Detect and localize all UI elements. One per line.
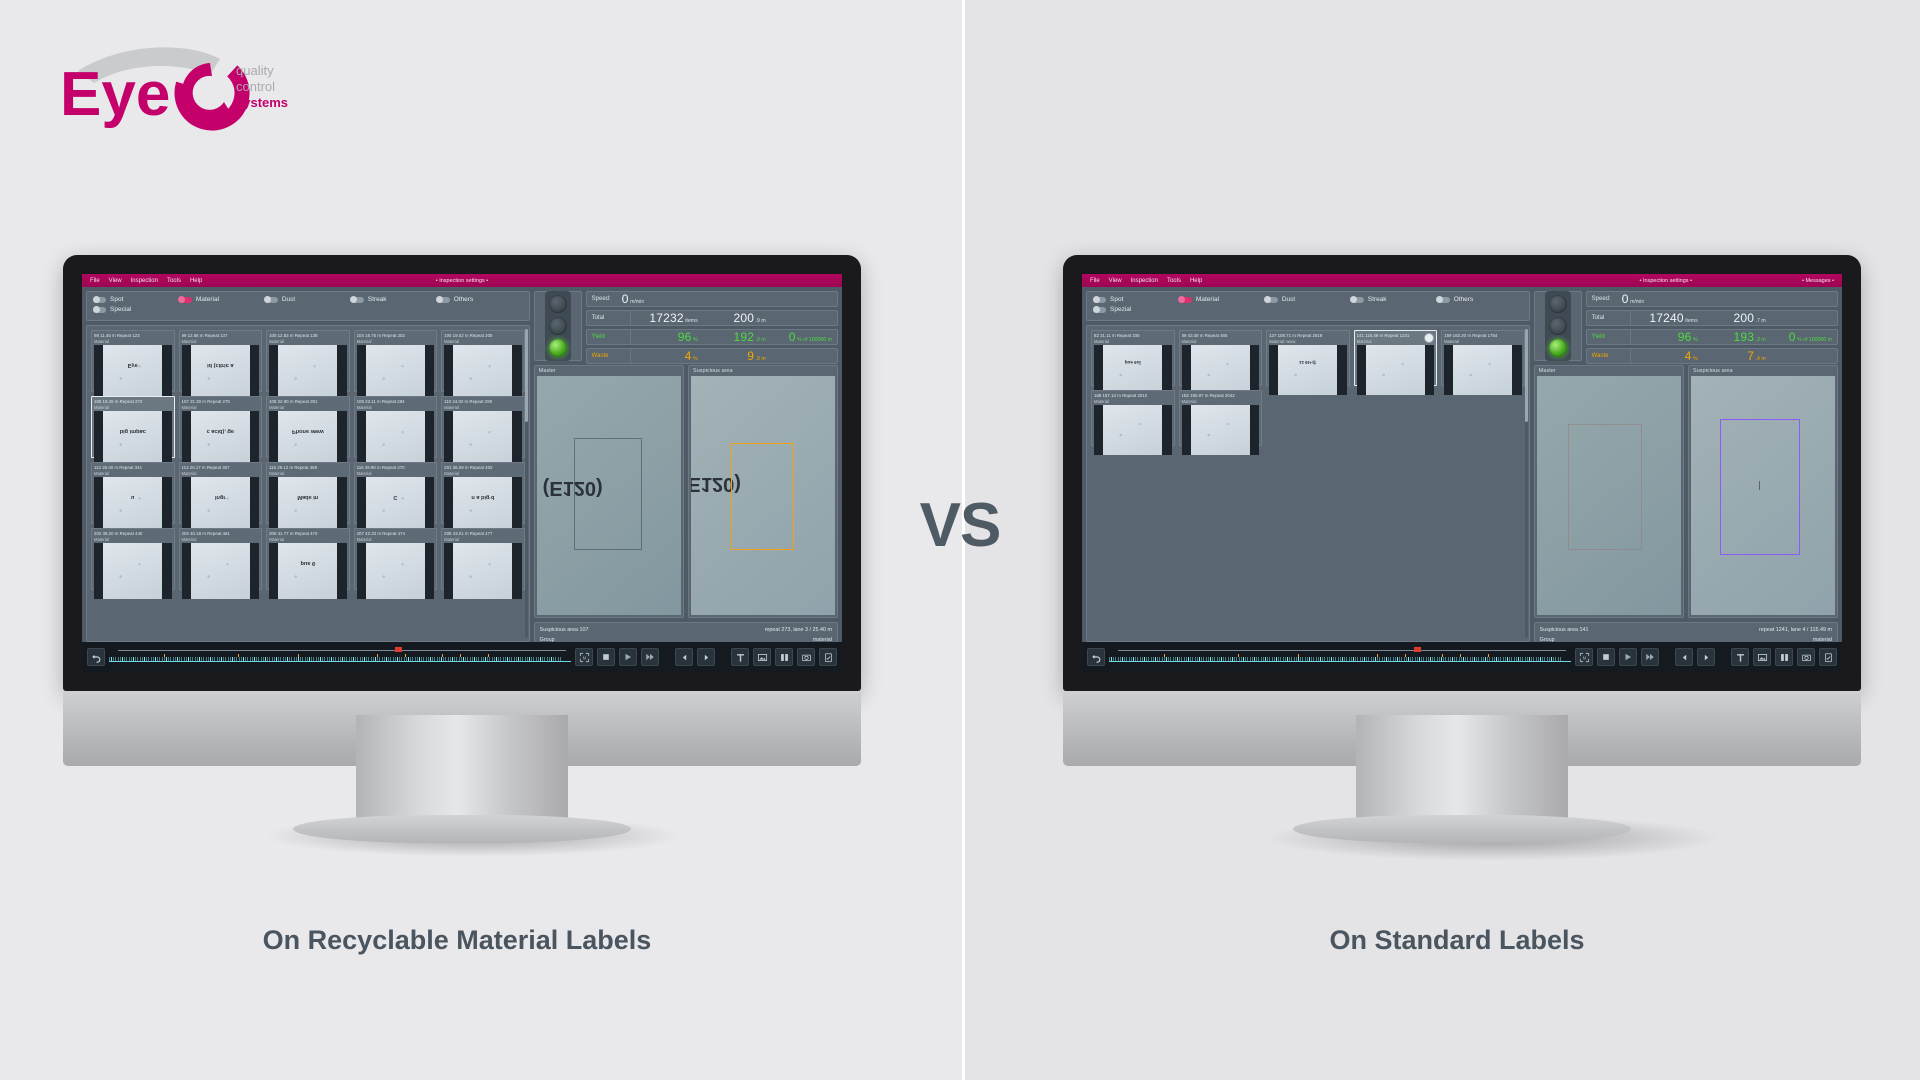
thumbnail-group: Material bbox=[182, 471, 260, 476]
thumbnail-image bbox=[94, 543, 172, 599]
stat-primary: 17232 items bbox=[631, 311, 703, 325]
menu-bar: FileViewInspectionToolsHelp bbox=[82, 278, 202, 284]
others-toggle[interactable] bbox=[437, 297, 450, 303]
thumbnail-group: Material bbox=[1094, 399, 1172, 404]
stat-row-speed: Speed: 0 m/min bbox=[586, 291, 838, 307]
monitor-left: FileViewInspectionToolsHelp • Inspection… bbox=[63, 255, 861, 766]
thumbnail-item[interactable]: 116 29.90 m Repeat 370 Material C bbox=[354, 462, 438, 524]
thumbnail-group: Material bbox=[94, 537, 172, 542]
thumbnail-group: Material bbox=[1357, 339, 1435, 344]
thumbnail-grid[interactable]: 82 31.11 m Repeat 335 Material pue 6ui 8… bbox=[1086, 325, 1530, 642]
filter-label: Streak bbox=[1368, 296, 1387, 303]
traffic-light-green bbox=[549, 339, 567, 357]
speed-cells: 0 m/min bbox=[611, 292, 837, 306]
text-icon[interactable] bbox=[1731, 648, 1749, 666]
thumbnail-item[interactable]: 141 115.49 m Repeat 1241 Material bbox=[1354, 330, 1438, 386]
menu-item-inspection[interactable]: Inspection bbox=[1131, 278, 1158, 284]
step-back-icon[interactable] bbox=[675, 648, 693, 666]
thumbnail-image bbox=[182, 543, 260, 599]
monitor-right-bezel: FileViewInspectionToolsHelp • Inspection… bbox=[1063, 255, 1861, 691]
timeline-position-marker[interactable] bbox=[1414, 647, 1421, 652]
stat-tertiary-unit: % of 100000 m bbox=[1797, 337, 1832, 343]
title-bar: FileViewInspectionToolsHelp • Inspection… bbox=[82, 274, 842, 287]
screen-right: FileViewInspectionToolsHelp • Inspection… bbox=[1082, 274, 1842, 672]
timeline-track-top2 bbox=[285, 650, 567, 651]
thumbnail-image: u bbox=[94, 477, 172, 533]
suspicious-image-panel[interactable]: Suspicious area (E120) bbox=[688, 365, 838, 618]
stat-row-total: Total 17240 items 200 .7 m bbox=[1586, 310, 1838, 326]
thumbnail-item[interactable]: 98 11.45 m Repeat 123 Material Eye bbox=[91, 330, 175, 392]
stat-label: Yield bbox=[587, 330, 631, 344]
timeline[interactable] bbox=[1109, 647, 1571, 667]
stat-primary-value: 17232 bbox=[649, 311, 683, 325]
thumbnail-image: C bbox=[357, 477, 435, 533]
filter-streak[interactable]: Streak bbox=[351, 296, 437, 303]
menu-item-file[interactable]: File bbox=[1090, 278, 1100, 284]
defect-filter-bar: Spot Material Dust Streak Others Spezial bbox=[1086, 291, 1530, 321]
svg-text:Eye: Eye bbox=[60, 60, 170, 129]
title-bar: FileViewInspectionToolsHelp • Inspection… bbox=[1082, 274, 1842, 287]
thumbnail-image bbox=[444, 411, 522, 467]
menu-item-tools[interactable]: Tools bbox=[167, 278, 181, 284]
spezial-toggle[interactable] bbox=[1093, 307, 1106, 313]
spot-toggle[interactable] bbox=[93, 297, 106, 303]
speed-label: Speed: bbox=[587, 292, 611, 306]
stat-primary: 4 % bbox=[1631, 349, 1703, 363]
filter-material[interactable]: Material bbox=[179, 296, 265, 303]
stat-secondary-unit: .7 m bbox=[1756, 318, 1766, 324]
stop-icon[interactable] bbox=[1597, 648, 1615, 666]
master-header: Master bbox=[1535, 366, 1683, 376]
stat-secondary-value: 200 bbox=[1733, 311, 1754, 325]
logo-tagline-1: quality bbox=[236, 63, 274, 78]
filter-dust[interactable]: Dust bbox=[265, 296, 351, 303]
messages-label[interactable]: • Messages • bbox=[1802, 278, 1834, 284]
stat-primary-unit: % bbox=[693, 337, 698, 343]
stat-secondary-value: 9 bbox=[747, 349, 754, 363]
svg-text:M: M bbox=[1582, 655, 1586, 660]
stat-primary-value: 4 bbox=[685, 349, 692, 363]
thumbnail-group: Material bbox=[269, 537, 347, 542]
stat-primary-value: 96 bbox=[1678, 330, 1692, 344]
timeline-baseline bbox=[109, 661, 571, 662]
stat-row-waste: Waste 4 % 9 .0 m bbox=[586, 348, 838, 364]
gallery-scrollbar[interactable] bbox=[525, 329, 528, 638]
caption-right: On Standard Labels bbox=[1107, 925, 1807, 956]
speed-label: Speed: bbox=[1587, 292, 1611, 306]
stat-label: Total bbox=[1587, 311, 1631, 325]
monitor-right: FileViewInspectionToolsHelp • Inspection… bbox=[1063, 255, 1861, 766]
detail-title-right: repeat 273, lane 3 / 25.40 m bbox=[765, 626, 832, 635]
stat-primary-value: 17240 bbox=[1649, 311, 1683, 325]
stat-secondary-value: 7 bbox=[1747, 349, 1754, 363]
suspicious-header: Suspicious area bbox=[689, 366, 837, 376]
stat-primary-unit: % bbox=[1693, 337, 1698, 343]
image-icon[interactable] bbox=[1753, 648, 1771, 666]
thumbnail-item[interactable]: 110 24.02 m Repeat 290 Material bbox=[441, 396, 525, 458]
stat-cells: 17232 items 200 .9 m bbox=[631, 311, 837, 325]
menu-item-help[interactable]: Help bbox=[190, 278, 202, 284]
traffic-light-green bbox=[1549, 339, 1567, 357]
thumbnail-image: n a big d bbox=[444, 477, 522, 533]
inspection-column: Speed: 0 m/min Total 17240 items bbox=[1534, 291, 1838, 668]
stat-tertiary-unit: % of 100000 m bbox=[797, 337, 832, 343]
thumbnail-grid[interactable]: 98 11.45 m Repeat 123 Material Eye 99 12… bbox=[86, 325, 530, 642]
thumbnail-group: Material bbox=[1182, 339, 1260, 344]
thumbnail-image: Eye bbox=[94, 345, 172, 401]
thumbnail-group: Material bbox=[182, 405, 260, 410]
stat-cells: 4 % 7 .4 m bbox=[1631, 349, 1837, 363]
filter-spot[interactable]: Spot bbox=[1093, 296, 1179, 303]
stat-tertiary: 0 % of 100000 m bbox=[1771, 330, 1837, 344]
thumbnail-image: big impac bbox=[94, 411, 172, 467]
thumbnail-group: Material bbox=[94, 471, 172, 476]
thumbnail-item[interactable]: 106 19.45 m Repeat 273 Material big impa… bbox=[91, 396, 175, 458]
thumbnail-image: c acid), ge bbox=[182, 411, 260, 467]
thumbnail-group: Material bbox=[357, 405, 435, 410]
thumbnail-item[interactable]: 207 42.33 m Repeat 474 Material bbox=[354, 528, 438, 590]
inspection-settings-label[interactable]: • Inspection settings • bbox=[1472, 278, 1692, 284]
stat-row-waste: Waste 4 % 7 .4 m bbox=[1586, 348, 1838, 364]
thumbnail-group: Material bbox=[444, 339, 522, 344]
thumbnail-group: Material bbox=[444, 471, 522, 476]
stat-secondary: 200 .9 m bbox=[703, 311, 771, 325]
dust-toggle[interactable] bbox=[1265, 297, 1278, 303]
filter-label: Material bbox=[1196, 296, 1219, 303]
report-icon[interactable] bbox=[819, 648, 837, 666]
play-icon[interactable] bbox=[1619, 648, 1637, 666]
material-toggle[interactable] bbox=[179, 297, 192, 303]
stat-label: Total bbox=[587, 311, 631, 325]
monitor-left-bezel: FileViewInspectionToolsHelp • Inspection… bbox=[63, 255, 861, 691]
thumbnail-item[interactable]: 182 190.87 m Repeat 2042 Material bbox=[1179, 390, 1263, 446]
report-icon[interactable] bbox=[1819, 648, 1837, 666]
special-toggle[interactable] bbox=[93, 307, 106, 313]
vs-label: VS bbox=[900, 490, 1020, 561]
filter-material[interactable]: Material bbox=[1179, 296, 1265, 303]
thumbnail-group: Material bbox=[1182, 399, 1260, 404]
filter-label: Spot bbox=[110, 296, 123, 303]
traffic-light bbox=[534, 291, 582, 361]
fit-icon[interactable]: M bbox=[575, 648, 593, 666]
filter-label: Others bbox=[1454, 296, 1474, 303]
thumbnail-image: Phone www bbox=[269, 411, 347, 467]
logo-tagline-2: control bbox=[236, 79, 275, 94]
stat-tertiary-value: 0 bbox=[789, 330, 796, 344]
filter-spot[interactable]: Spot bbox=[93, 296, 179, 303]
thumbnail-group: Material bbox=[1094, 339, 1172, 344]
thumbnail-item[interactable]: 89 43.08 m Repeat 465 Material bbox=[1179, 330, 1263, 386]
menu-item-help[interactable]: Help bbox=[1190, 278, 1202, 284]
speed-value: 0 bbox=[1622, 292, 1629, 306]
thumbnail-item[interactable]: 206 41.77 m Repeat 470 Material pue 6 bbox=[266, 528, 350, 590]
gallery-scrollbar[interactable] bbox=[1525, 329, 1528, 638]
filter-dust[interactable]: Dust bbox=[1265, 296, 1351, 303]
menu-bar: FileViewInspectionToolsHelp bbox=[1082, 278, 1202, 284]
menu-item-inspection[interactable]: Inspection bbox=[131, 278, 158, 284]
thumbnail-image bbox=[1094, 405, 1172, 455]
eyec-logo: Eye quality control systems bbox=[60, 45, 290, 130]
thumbnail-group: Material bbox=[269, 339, 347, 344]
image-compare-area: Master (E120) Suspicious area (E120) bbox=[534, 365, 838, 618]
step-back-icon[interactable] bbox=[1675, 648, 1693, 666]
thumbnail-item[interactable]: 107 21.30 m Repeat 275 Material c acid),… bbox=[179, 396, 263, 458]
stat-primary: 96 % bbox=[1631, 330, 1703, 344]
thumbnail-group: Material bbox=[269, 471, 347, 476]
stat-secondary-unit: .3 m bbox=[1756, 337, 1766, 343]
stat-label: Waste bbox=[587, 349, 631, 363]
suspicious-canvas[interactable] bbox=[1691, 376, 1835, 615]
speed-value: 0 bbox=[622, 292, 629, 306]
stat-label: Waste bbox=[1587, 349, 1631, 363]
stat-row-speed: Speed: 0 m/min bbox=[1586, 291, 1838, 307]
stat-cells: 96 % 193 .3 m 0 % of 100000 m bbox=[1631, 330, 1837, 344]
undo-icon[interactable] bbox=[87, 648, 105, 666]
filter-label: Dust bbox=[282, 296, 295, 303]
status-row: Speed: 0 m/min Total 17240 items bbox=[1534, 291, 1838, 361]
speed-unit: m/min bbox=[630, 299, 644, 305]
play-icon[interactable] bbox=[619, 648, 637, 666]
thumbnail-item[interactable]: 104 16.75 m Repeat 202 Material bbox=[354, 330, 438, 392]
thumbnail-item[interactable]: 109 23.11 m Repeat 284 Material bbox=[354, 396, 438, 458]
text-icon[interactable] bbox=[731, 648, 749, 666]
playback-toolbar: M bbox=[82, 642, 842, 672]
thumbnail-group: Material bbox=[357, 339, 435, 344]
split-view-icon[interactable] bbox=[1775, 648, 1793, 666]
detail-title: Suspicious area 141 bbox=[1540, 626, 1589, 635]
camera-icon[interactable] bbox=[797, 648, 815, 666]
status-row: Speed: 0 m/min Total 17232 items bbox=[534, 291, 838, 361]
timeline-track-top2 bbox=[1285, 650, 1567, 651]
thumbnail-item[interactable]: 202 38.20 m Repeat 440 Material bbox=[91, 528, 175, 590]
thumbnail-group: Material bbox=[269, 405, 347, 410]
thumbnail-image bbox=[1182, 345, 1260, 395]
menu-item-view[interactable]: View bbox=[109, 278, 122, 284]
menu-item-file[interactable]: File bbox=[90, 278, 100, 284]
thumbnail-image: pue 6ui bbox=[1094, 345, 1172, 395]
detail-title-row: Suspicious area 141 repeat 1241, lane 4 … bbox=[1540, 626, 1832, 635]
step-forward-icon[interactable] bbox=[697, 648, 715, 666]
stat-primary: 4 % bbox=[631, 349, 703, 363]
monitor-right-foot bbox=[1293, 815, 1631, 843]
stat-tertiary-value: 0 bbox=[1789, 330, 1796, 344]
fast-forward-icon[interactable] bbox=[641, 648, 659, 666]
stat-primary-value: 4 bbox=[1685, 349, 1692, 363]
stat-primary: 17240 items bbox=[1631, 311, 1703, 325]
others-toggle[interactable] bbox=[1437, 297, 1450, 303]
suspicious-image-panel[interactable]: Suspicious area bbox=[1688, 365, 1838, 618]
thumbnail-image bbox=[1182, 405, 1260, 455]
stat-row-yield: Yield 96 % 193 .3 m 0 % of 100000 m bbox=[1586, 329, 1838, 345]
traffic-light-red bbox=[549, 295, 567, 313]
thumbnail-group: Material: www bbox=[1269, 339, 1347, 344]
spot-toggle[interactable] bbox=[1093, 297, 1106, 303]
monitor-left-foot bbox=[293, 815, 631, 843]
split-view-icon[interactable] bbox=[775, 648, 793, 666]
filter-label: Dust bbox=[1282, 296, 1295, 303]
thumbnail-image: pue 6 bbox=[269, 543, 347, 599]
filter-streak[interactable]: Streak bbox=[1351, 296, 1437, 303]
camera-icon[interactable] bbox=[1797, 648, 1815, 666]
thumbnail-image bbox=[1444, 345, 1522, 395]
thumbnail-image bbox=[357, 411, 435, 467]
traffic-light-red bbox=[1549, 295, 1567, 313]
stat-secondary-unit: .9 m bbox=[756, 318, 766, 324]
timeline-baseline bbox=[1109, 661, 1571, 662]
thumbnail-image bbox=[269, 345, 347, 401]
defect-highlight-box bbox=[731, 443, 794, 550]
filter-label: Special bbox=[110, 306, 131, 313]
thumbnail-item[interactable]: 100 12.83 m Repeat 138 Material bbox=[266, 330, 350, 392]
stop-icon[interactable] bbox=[597, 648, 615, 666]
thumbnail-group: Material bbox=[444, 405, 522, 410]
stat-secondary: 193 .3 m bbox=[1703, 330, 1771, 344]
speed-value-cell: 0 m/min bbox=[617, 292, 650, 306]
menu-item-view[interactable]: View bbox=[1109, 278, 1122, 284]
filter-spezial[interactable]: Spezial bbox=[1093, 306, 1523, 313]
stat-label: Yield bbox=[1587, 330, 1631, 344]
master-canvas[interactable] bbox=[1537, 376, 1681, 615]
thumbnail-group: Material bbox=[357, 471, 435, 476]
step-forward-icon[interactable] bbox=[1697, 648, 1715, 666]
stat-secondary-unit: .0 m bbox=[756, 356, 766, 362]
thumbnail-image bbox=[444, 345, 522, 401]
gallery-column: Spot Material Dust Streak Others Spezial… bbox=[1086, 291, 1530, 668]
streak-toggle[interactable] bbox=[351, 297, 364, 303]
undo-icon[interactable] bbox=[1087, 648, 1105, 666]
timeline-position-marker[interactable] bbox=[395, 647, 402, 652]
filter-others[interactable]: Others bbox=[437, 296, 523, 303]
app-body: Spot Material Dust Streak Others Special… bbox=[82, 287, 842, 672]
stat-row-yield: Yield 96 % 192 .0 m 0 % of 100000 m bbox=[586, 329, 838, 345]
thumbnail-item[interactable]: 105 19.02 m Repeat 205 Material bbox=[441, 330, 525, 392]
material-toggle[interactable] bbox=[1179, 297, 1192, 303]
streak-toggle[interactable] bbox=[1351, 297, 1364, 303]
svg-text:M: M bbox=[582, 655, 586, 660]
stat-secondary-unit: .4 m bbox=[1756, 356, 1766, 362]
thumbnail-item[interactable]: 115 29.12 m Repeat 369 Material Made in bbox=[266, 462, 350, 524]
screen-left: FileViewInspectionToolsHelp • Inspection… bbox=[82, 274, 842, 672]
thumbnail-item[interactable]: 112 26.00 m Repeat 341 Material u bbox=[91, 462, 175, 524]
timeline[interactable] bbox=[109, 647, 571, 667]
traffic-light-yellow bbox=[1549, 317, 1567, 335]
inspection-app-right: FileViewInspectionToolsHelp • Inspection… bbox=[1082, 274, 1842, 672]
caption-left: On Recyclable Material Labels bbox=[107, 925, 807, 956]
filter-label: Others bbox=[454, 296, 474, 303]
stat-secondary: 7 .4 m bbox=[1703, 349, 1771, 363]
stat-secondary: 192 .0 m bbox=[703, 330, 771, 344]
stat-secondary-value: 200 bbox=[733, 311, 754, 325]
stat-secondary-value: 192 bbox=[733, 330, 754, 344]
thumbnail-group: Material bbox=[1444, 339, 1522, 344]
thumbnail-item[interactable]: 168 187.13 m Repeat 2010 Material bbox=[1091, 390, 1175, 446]
traffic-light-yellow bbox=[549, 317, 567, 335]
thumbnail-group: Material bbox=[182, 339, 260, 344]
filter-special[interactable]: Special bbox=[93, 306, 523, 313]
stat-tertiary: 0 % of 100000 m bbox=[771, 330, 837, 344]
thumbnail-image: zz 6t+@ bbox=[1269, 345, 1347, 395]
playback-toolbar: M bbox=[1082, 642, 1842, 672]
master-region-box bbox=[574, 438, 642, 550]
image-compare-area: Master Suspicious area bbox=[1534, 365, 1838, 618]
thumbnail-group: Material bbox=[444, 537, 522, 542]
stat-secondary-unit: .0 m bbox=[756, 337, 766, 343]
stat-row-total: Total 17232 items 200 .9 m bbox=[586, 310, 838, 326]
thumbnail-item[interactable]: 137 108.71 m Repeat 2518 Material: www z… bbox=[1266, 330, 1350, 386]
thumbnail-item[interactable]: 208 43.01 m Repeat 477 Material bbox=[441, 528, 525, 590]
master-image-panel[interactable]: Master bbox=[1534, 365, 1684, 618]
filter-label: Streak bbox=[368, 296, 387, 303]
master-image-panel[interactable]: Master (E120) bbox=[534, 365, 684, 618]
thumbnail-group: Material bbox=[182, 537, 260, 542]
fit-icon[interactable]: M bbox=[1575, 648, 1593, 666]
dust-toggle[interactable] bbox=[265, 297, 278, 303]
thumbnail-image bbox=[357, 345, 435, 401]
thumbnail-image: Made in bbox=[269, 477, 347, 533]
speed-unit: m/min bbox=[1630, 299, 1644, 305]
thumbnail-item[interactable]: 204 40.18 m Repeat 461 Material bbox=[179, 528, 263, 590]
thumbnail-image bbox=[357, 543, 435, 599]
image-icon[interactable] bbox=[753, 648, 771, 666]
stat-primary-unit: % bbox=[1693, 356, 1698, 362]
master-header: Master bbox=[535, 366, 683, 376]
stat-primary-unit: % bbox=[693, 356, 698, 362]
thumbnail-item[interactable]: 108 22.90 m Repeat 281 Material Phone ww… bbox=[266, 396, 350, 458]
thumbnail-item[interactable]: 201 36.09 m Repeat 402 Material n a big … bbox=[441, 462, 525, 524]
thumbnail-item[interactable]: 99 12.68 m Repeat 137 Material id (citri… bbox=[179, 330, 263, 392]
fast-forward-icon[interactable] bbox=[1641, 648, 1659, 666]
thumbnail-item[interactable]: 159 163.20 m Repeat 1754 Material bbox=[1441, 330, 1525, 386]
stat-primary: 96 % bbox=[631, 330, 703, 344]
filter-label: Material bbox=[196, 296, 219, 303]
thumbnail-item[interactable]: 113 26.17 m Repeat 357 Material Ingr bbox=[179, 462, 263, 524]
filter-label: Spot bbox=[1110, 296, 1123, 303]
gallery-column: Spot Material Dust Streak Others Special… bbox=[86, 291, 530, 668]
thumbnail-image: id (citric a bbox=[182, 345, 260, 401]
stat-cells: 96 % 192 .0 m 0 % of 100000 m bbox=[631, 330, 837, 344]
menu-item-tools[interactable]: Tools bbox=[1167, 278, 1181, 284]
thumbnail-image bbox=[1357, 345, 1435, 395]
thumbnail-group: Material bbox=[94, 339, 172, 344]
stat-secondary: 200 .7 m bbox=[1703, 311, 1771, 325]
detail-title-row: Suspicious area 107 repeat 273, lane 3 /… bbox=[540, 626, 832, 635]
filter-others[interactable]: Others bbox=[1437, 296, 1523, 303]
logo-tagline-3: systems bbox=[236, 95, 288, 110]
app-body: Spot Material Dust Streak Others Spezial… bbox=[1082, 287, 1842, 672]
speed-value-cell: 0 m/min bbox=[1617, 292, 1650, 306]
inspection-column: Speed: 0 m/min Total 17232 items bbox=[534, 291, 838, 668]
stat-secondary-value: 193 bbox=[1733, 330, 1754, 344]
inspection-app-left: FileViewInspectionToolsHelp • Inspection… bbox=[82, 274, 842, 672]
stat-primary-unit: items bbox=[685, 318, 697, 324]
stat-secondary: 9 .0 m bbox=[703, 349, 771, 363]
thumbnail-group: Material bbox=[94, 405, 172, 410]
suspicious-header: Suspicious area bbox=[1689, 366, 1837, 376]
detail-title-right: repeat 1241, lane 4 / 115.49 m bbox=[1759, 626, 1832, 635]
thumbnail-group: Material bbox=[357, 537, 435, 542]
master-canvas[interactable]: (E120) bbox=[537, 376, 681, 615]
stat-primary-unit: items bbox=[1685, 318, 1697, 324]
statistics-panel: Speed: 0 m/min Total 17232 items bbox=[586, 291, 838, 361]
thumbnail-image: Ingr bbox=[182, 477, 260, 533]
stat-primary-value: 96 bbox=[678, 330, 692, 344]
suspicious-canvas[interactable]: (E120) bbox=[691, 376, 835, 615]
defect-filter-bar: Spot Material Dust Streak Others Special bbox=[86, 291, 530, 321]
thumbnail-item[interactable]: 82 31.11 m Repeat 335 Material pue 6ui bbox=[1091, 330, 1175, 386]
speed-cells: 0 m/min bbox=[1611, 292, 1837, 306]
thumbnail-image bbox=[444, 543, 522, 599]
traffic-light bbox=[1534, 291, 1582, 361]
